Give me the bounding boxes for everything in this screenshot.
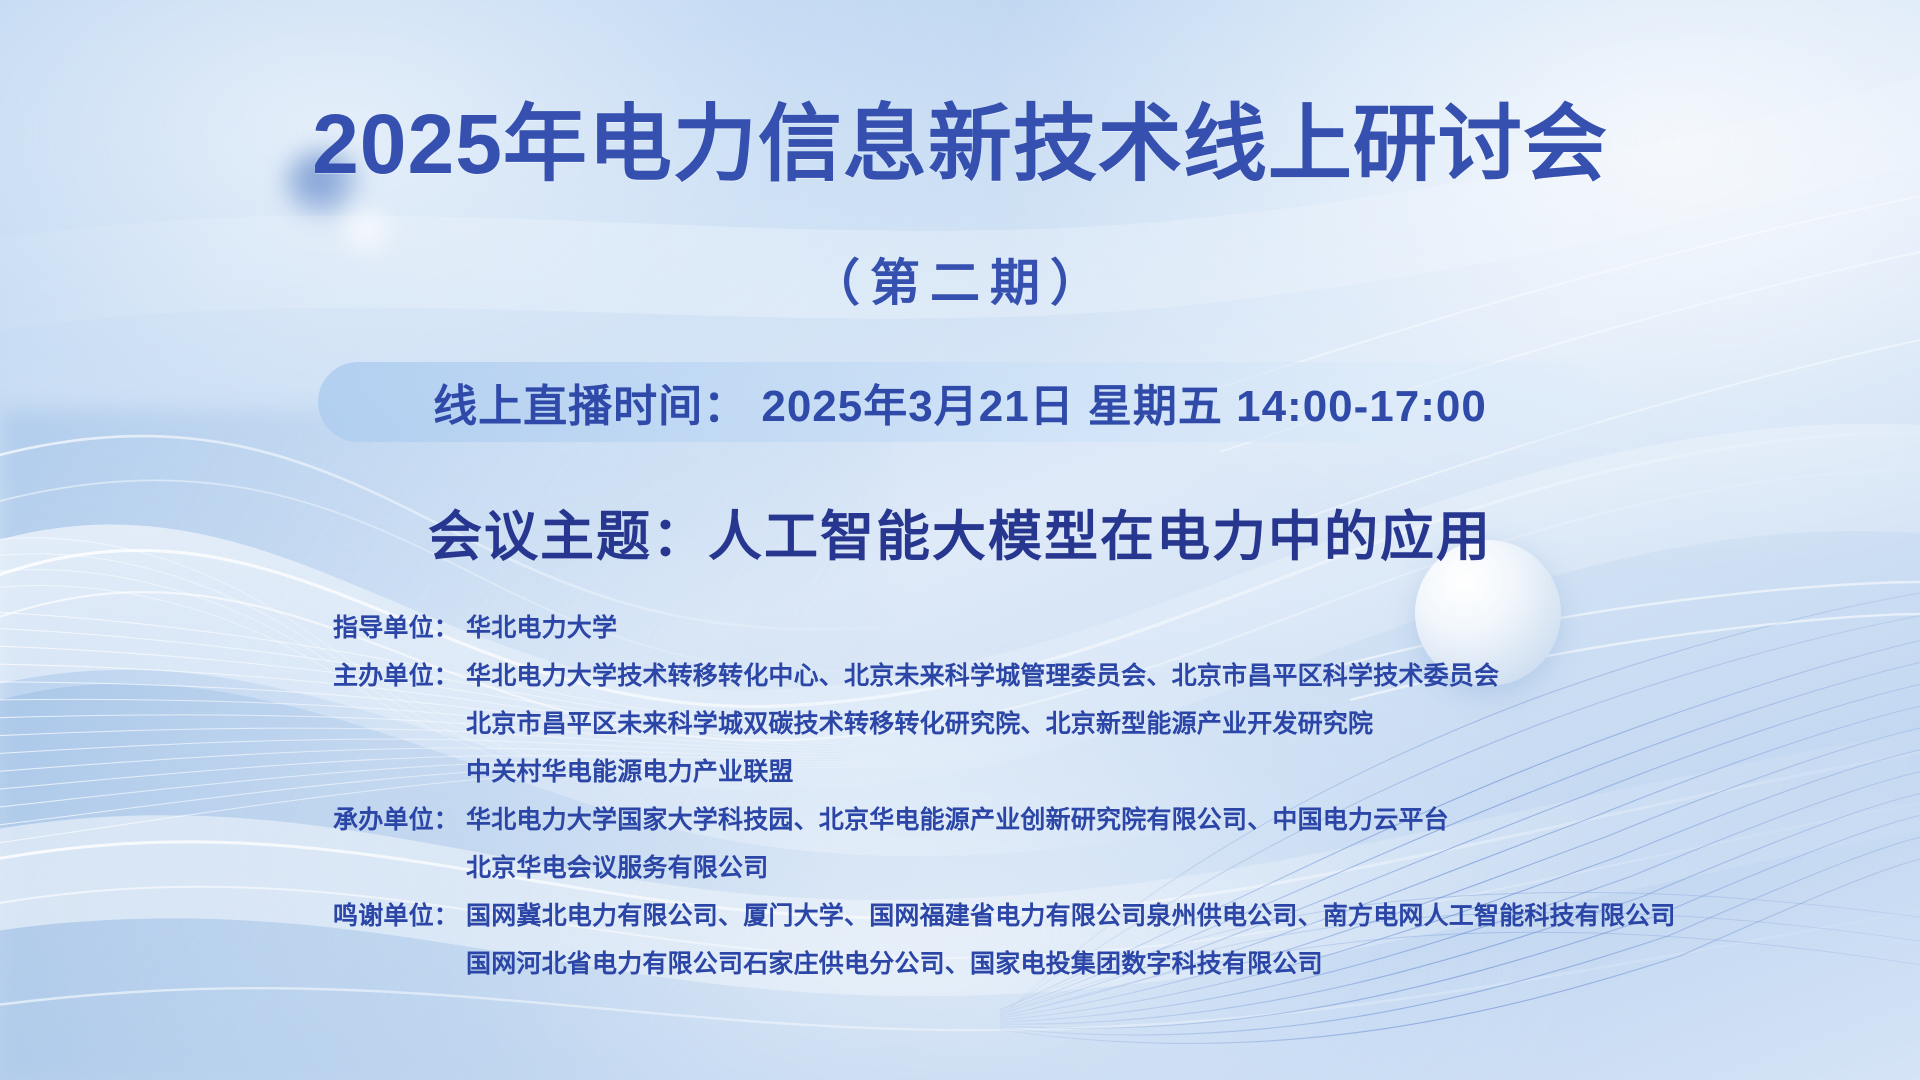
org-values: 国网冀北电力有限公司、厦门大学、国网福建省电力有限公司泉州供电公司、南方电网人工… xyxy=(466,896,1676,980)
org-line: 华北电力大学国家大学科技园、北京华电能源产业创新研究院有限公司、中国电力云平台 xyxy=(466,800,1633,836)
org-line: 国网河北省电力有限公司石家庄供电分公司、国家电投集团数字科技有限公司 xyxy=(466,944,1676,980)
org-line: 华北电力大学 xyxy=(466,608,1633,644)
org-values: 华北电力大学 xyxy=(466,608,1633,644)
org-line: 中关村华电能源电力产业联盟 xyxy=(466,752,1633,788)
org-label: 主办单位： xyxy=(333,656,466,692)
org-label: 鸣谢单位： xyxy=(333,896,466,932)
org-row-organizer: 承办单位： 华北电力大学国家大学科技园、北京华电能源产业创新研究院有限公司、中国… xyxy=(333,800,1633,884)
broadcast-time-text: 线上直播时间： 2025年3月21日 星期五 14:00-17:00 xyxy=(433,370,1487,434)
conference-theme: 会议主题：人工智能大模型在电力中的应用 xyxy=(0,492,1920,571)
poster-content: 2025年电力信息新技术线上研讨会 （第二期） 线上直播时间： 2025年3月2… xyxy=(0,0,1920,1080)
org-line: 北京华电会议服务有限公司 xyxy=(466,848,1633,884)
org-values: 华北电力大学国家大学科技园、北京华电能源产业创新研究院有限公司、中国电力云平台 … xyxy=(466,800,1633,884)
org-row-host: 主办单位： 华北电力大学技术转移转化中心、北京未来科学城管理委员会、北京市昌平区… xyxy=(333,656,1633,788)
organizations-block: 指导单位： 华北电力大学 主办单位： 华北电力大学技术转移转化中心、北京未来科学… xyxy=(333,608,1633,992)
org-label: 承办单位： xyxy=(333,800,466,836)
page-title: 2025年电力信息新技术线上研讨会 xyxy=(0,100,1920,188)
org-line: 北京市昌平区未来科学城双碳技术转移转化研究院、北京新型能源产业开发研究院 xyxy=(466,704,1633,740)
org-row-acknowledgement: 鸣谢单位： 国网冀北电力有限公司、厦门大学、国网福建省电力有限公司泉州供电公司、… xyxy=(333,896,1633,980)
page-subtitle: （第二期） xyxy=(0,243,1920,315)
broadcast-time-banner: 线上直播时间： 2025年3月21日 星期五 14:00-17:00 xyxy=(318,362,1602,442)
org-line: 华北电力大学技术转移转化中心、北京未来科学城管理委员会、北京市昌平区科学技术委员… xyxy=(466,656,1633,692)
org-label: 指导单位： xyxy=(333,608,466,644)
webinar-poster: 2025年电力信息新技术线上研讨会 （第二期） 线上直播时间： 2025年3月2… xyxy=(0,0,1920,1080)
org-line: 国网冀北电力有限公司、厦门大学、国网福建省电力有限公司泉州供电公司、南方电网人工… xyxy=(466,896,1676,932)
org-values: 华北电力大学技术转移转化中心、北京未来科学城管理委员会、北京市昌平区科学技术委员… xyxy=(466,656,1633,788)
org-row-guidance: 指导单位： 华北电力大学 xyxy=(333,608,1633,644)
